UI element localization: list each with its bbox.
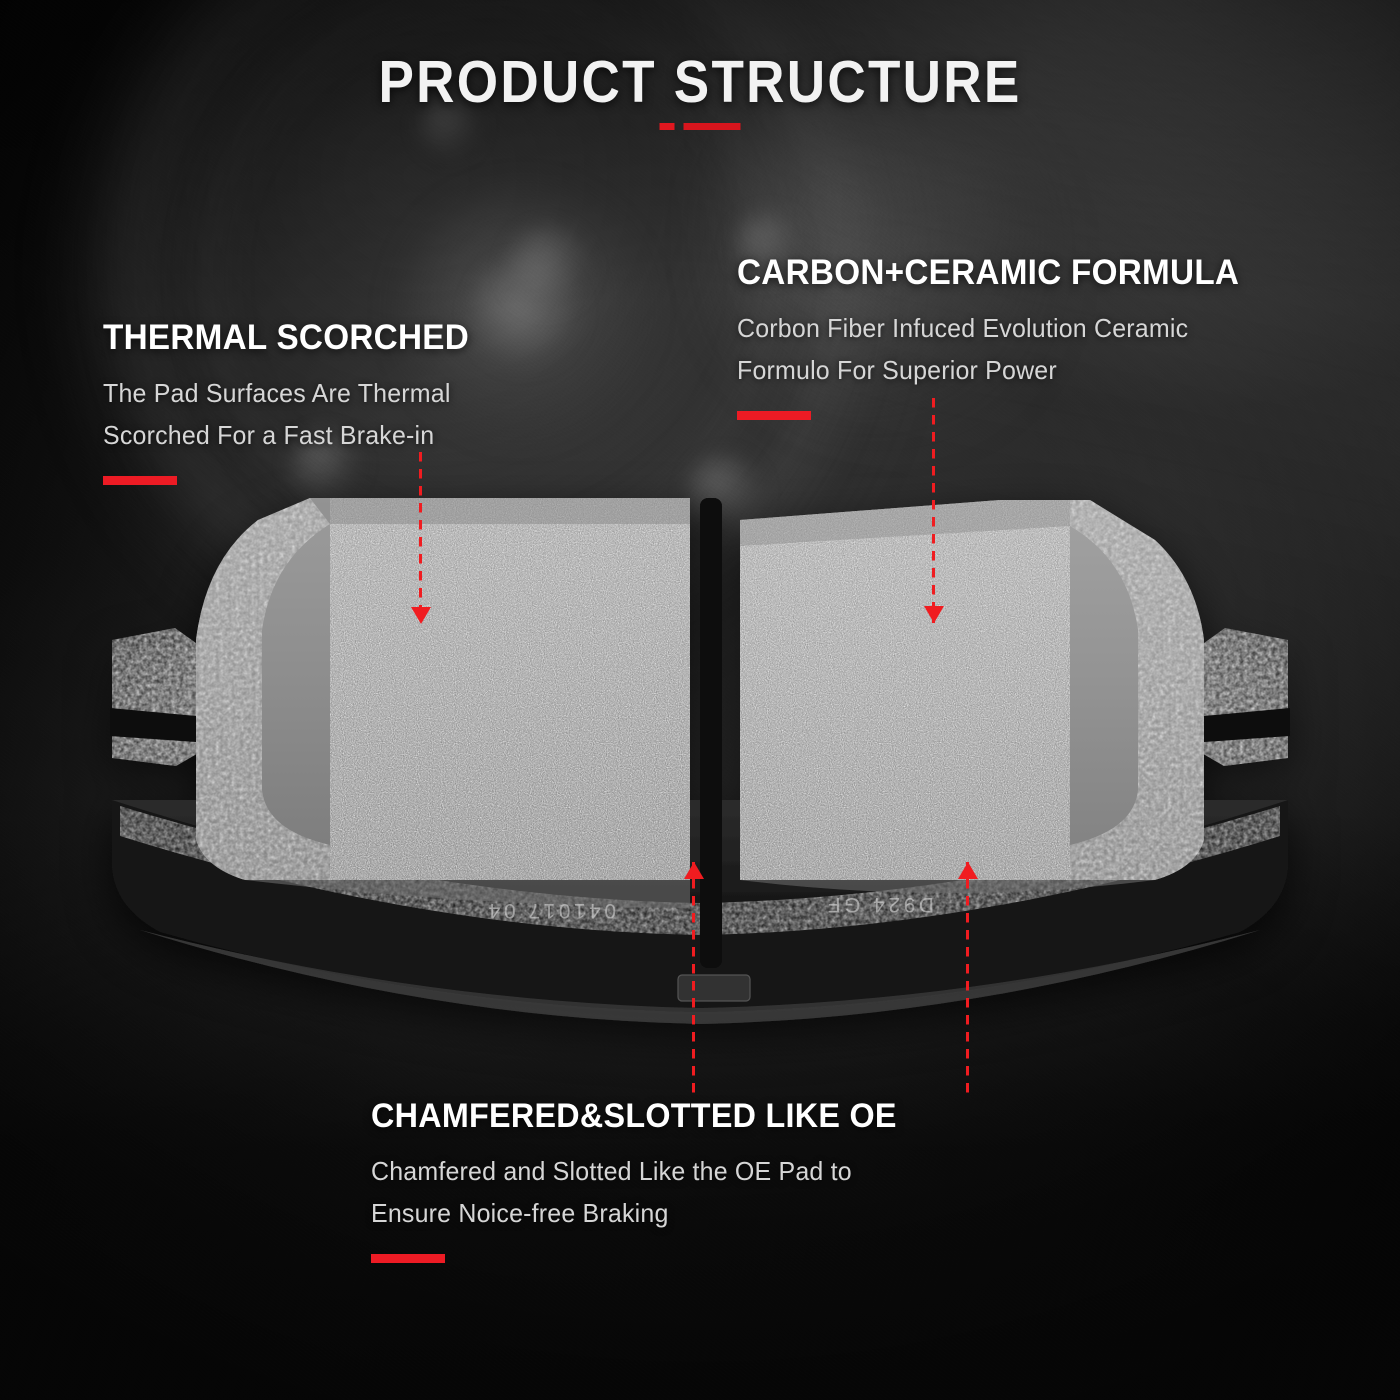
page-title: PRODUCT STRUCTURE [70, 48, 1330, 116]
callout-carbon-ceramic-formula: CARBON+CERAMIC FORMULA Corbon Fiber Infu… [737, 253, 1266, 420]
callout-body-line: The Pad Surfaces Are Thermal [103, 372, 473, 414]
callout-chamfered-slotted: CHAMFERED&SLOTTED LIKE OE Chamfered and … [371, 1097, 924, 1263]
callout-body: Corbon Fiber Infuced Evolution Ceramic F… [737, 307, 1245, 391]
title-accent-dash-large [684, 123, 741, 130]
callout-body-line: Corbon Fiber Infuced Evolution Ceramic [737, 307, 1245, 349]
callout-accent-bar [371, 1254, 445, 1263]
arrow-down-icon [411, 607, 431, 624]
callout-heading: CARBON+CERAMIC FORMULA [737, 253, 1239, 293]
callout-body-line: Scorched For a Fast Brake-in [103, 414, 473, 456]
chamfer-right-leader-line [966, 862, 969, 1094]
product-structure-infographic: PRODUCT STRUCTURE [0, 0, 1400, 1400]
chamfer-left-leader-line [692, 862, 695, 1094]
callout-heading: CHAMFERED&SLOTTED LIKE OE [371, 1097, 897, 1136]
title-accent-marks [660, 123, 741, 130]
callout-body-line: Ensure Noice-free Braking [371, 1192, 902, 1234]
dashed-line [966, 862, 969, 1094]
callout-thermal-scorched: THERMAL SCORCHED The Pad Surfaces Are Th… [103, 318, 488, 485]
callout-body-line: Formulo For Superior Power [737, 349, 1245, 391]
callout-heading: THERMAL SCORCHED [103, 318, 469, 358]
dashed-line [932, 398, 935, 623]
callout-accent-bar [103, 476, 177, 485]
callout-body: Chamfered and Slotted Like the OE Pad to… [371, 1150, 902, 1234]
callout-body-line: Chamfered and Slotted Like the OE Pad to [371, 1150, 902, 1192]
callout-body: The Pad Surfaces Are Thermal Scorched Fo… [103, 372, 473, 456]
arrow-up-icon [684, 862, 704, 879]
carbon-leader-line [932, 398, 935, 623]
dashed-line [692, 862, 695, 1094]
callout-accent-bar [737, 411, 811, 420]
arrow-down-icon [924, 606, 944, 623]
title-accent-dash-small [660, 123, 675, 130]
arrow-up-icon [958, 862, 978, 879]
